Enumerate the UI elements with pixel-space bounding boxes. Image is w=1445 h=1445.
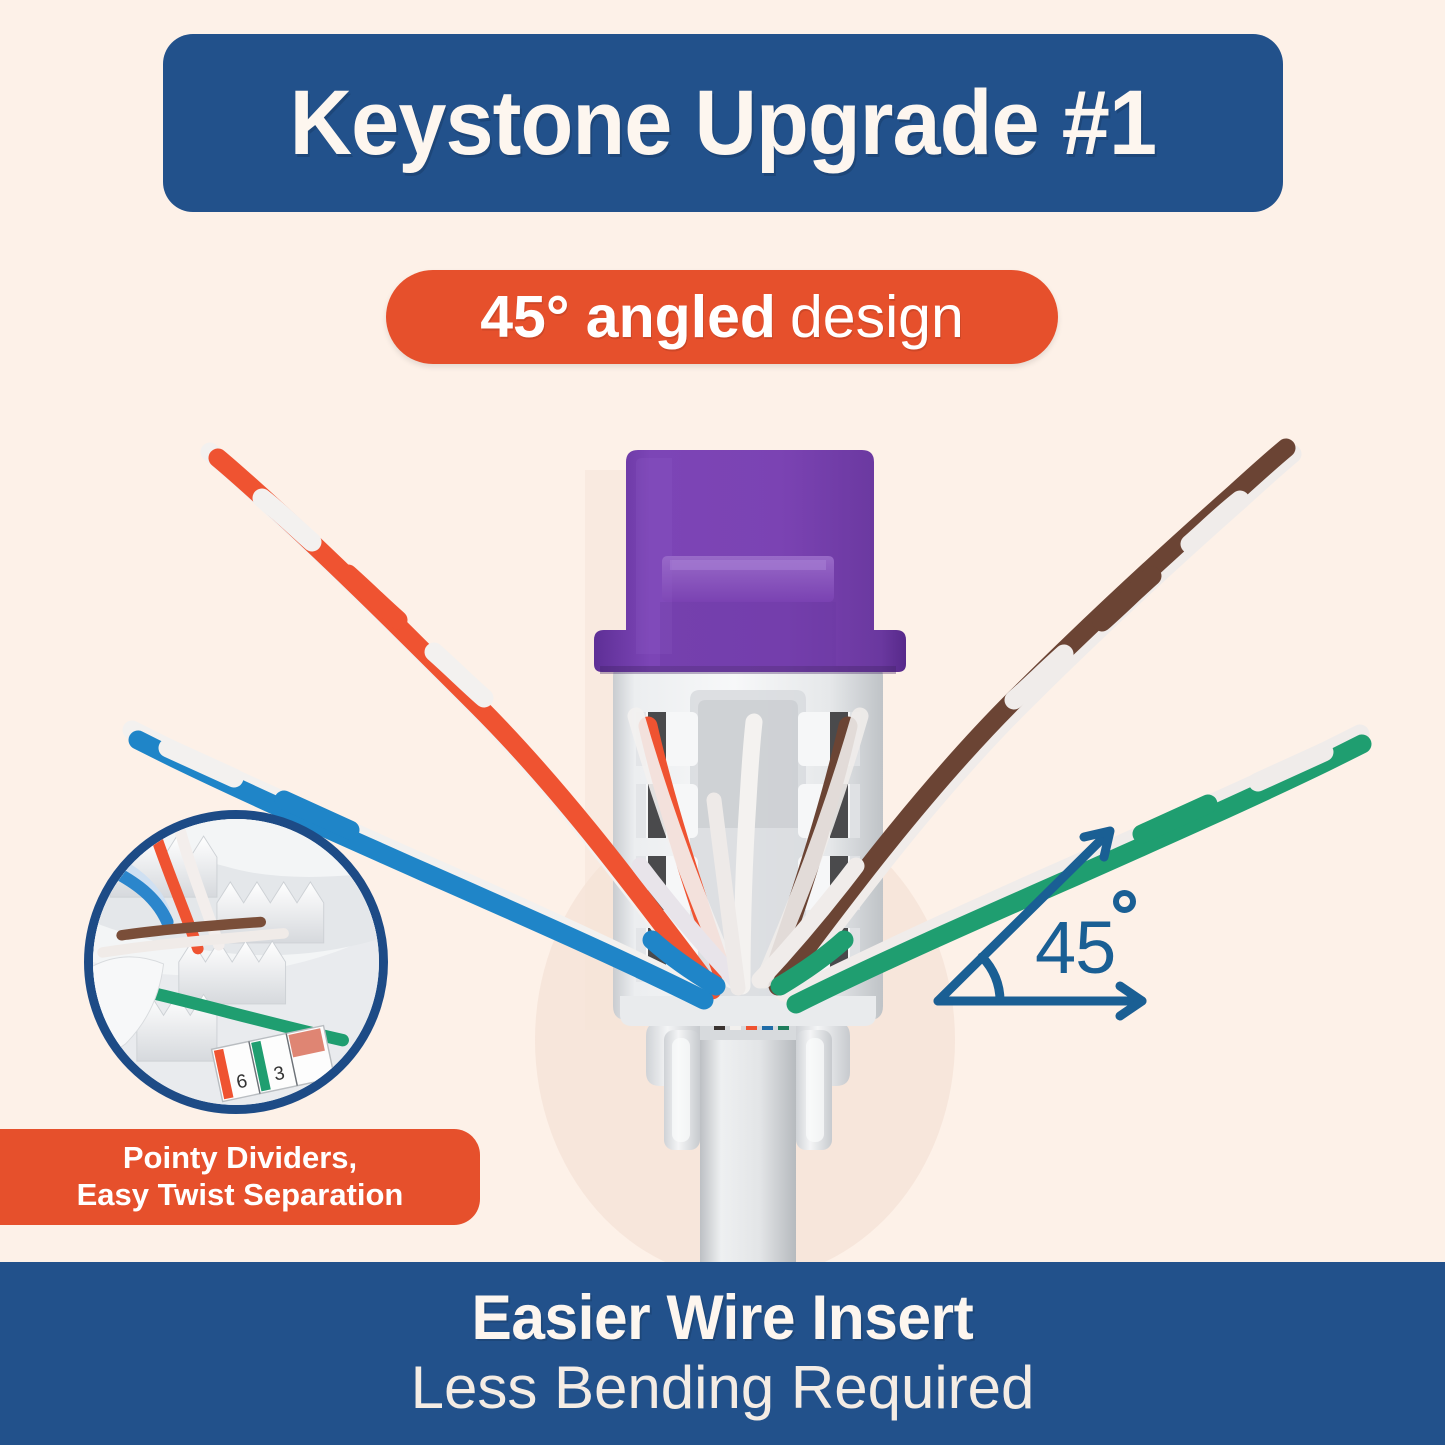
purple-cap [594,450,906,674]
badge-light-text: design [790,283,964,351]
angled-design-badge: 45° angled design [386,270,1058,364]
keystone-body [613,666,883,1026]
title-banner: Keystone Upgrade #1 [163,34,1283,212]
bottom-subline: Less Bending Required [411,1353,1035,1422]
punchdown-slots-left [636,712,698,982]
closeup-inset-image: 6 3 [93,819,379,1105]
keystone-jack-illustration [0,0,1445,1445]
infographic-canvas: 45 [0,0,1445,1445]
inset-caption-line-1: Pointy Dividers, [123,1140,357,1177]
inset-caption-line-2: Easy Twist Separation [77,1177,404,1214]
bottom-headline: Easier Wire Insert [472,1285,974,1351]
bottom-banner: Easier Wire Insert Less Bending Required [0,1262,1445,1445]
angle-value-label: 45 [1035,905,1115,990]
badge-bold-text: 45° angled [480,283,776,351]
punchdown-slots-right [798,712,860,982]
closeup-inset-circle: 6 3 [84,810,388,1114]
inset-caption-badge: Pointy Dividers, Easy Twist Separation [0,1129,480,1225]
page-title: Keystone Upgrade #1 [290,71,1156,176]
degree-symbol-icon [1113,890,1136,913]
wire-stubs [714,994,789,1030]
cable-jacket [646,1020,850,1282]
